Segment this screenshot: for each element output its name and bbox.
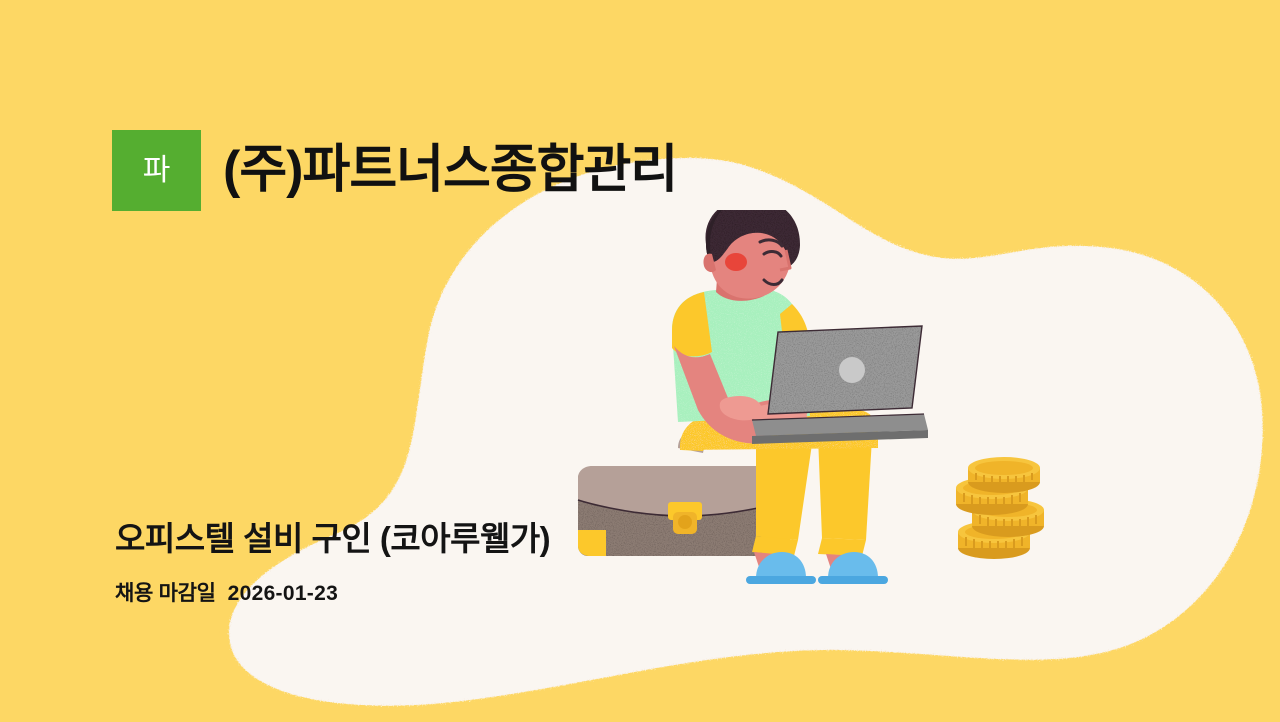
job-title: 오피스텔 설비 구인 (코아루웰가) [115,518,550,561]
deadline-label: 채용 마감일 [115,577,216,607]
coin-stack-icon [956,457,1044,559]
company-header: 파 (주)파트너스종합관리 [112,130,677,211]
person-back-leg [752,438,812,570]
job-posting-card: 파 (주)파트너스종합관리 오피스텔 설비 구인 (코아루웰가) 채용 마감일 … [0,0,1280,722]
company-initial-letter: 파 [143,156,171,186]
company-name: (주)파트너스종합관리 [223,143,677,198]
deadline-row: 채용 마감일 2026-01-23 [115,577,550,607]
deadline-date: 2026-01-23 [228,582,338,606]
company-initial-badge: 파 [112,130,201,211]
laptop-icon [752,326,928,444]
person-head [703,210,800,301]
job-summary: 오피스텔 설비 구인 (코아루웰가) 채용 마감일 2026-01-23 [115,518,550,607]
illustration-man-with-laptop [560,210,1080,610]
person-front-leg [818,436,872,572]
